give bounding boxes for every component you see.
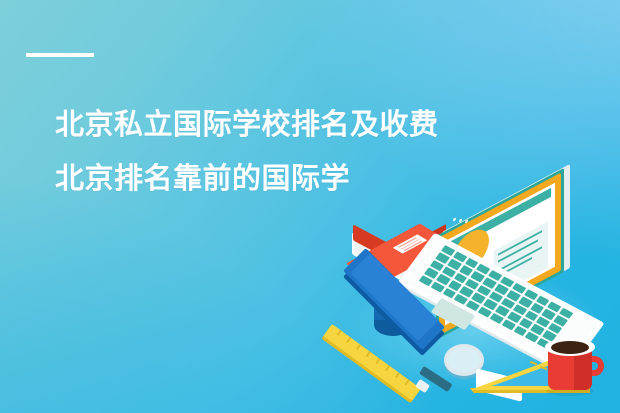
headline-block: 北京私立国际学校排名及收费 北京排名靠前的国际学	[55, 98, 575, 206]
banner-card: 北京私立国际学校排名及收费 北京排名靠前的国际学	[0, 0, 620, 413]
headline-line-1: 北京私立国际学校排名及收费	[55, 98, 575, 152]
background-highlight-bottom-left	[0, 183, 340, 413]
study-desk-illustration	[330, 196, 620, 413]
mug-coffee-surface	[551, 341, 589, 354]
ruler-body	[323, 324, 421, 401]
accent-rule	[26, 53, 94, 57]
ruler-icon	[332, 324, 424, 398]
coffee-mug-icon	[544, 336, 606, 400]
window-dot-icon	[453, 217, 456, 222]
